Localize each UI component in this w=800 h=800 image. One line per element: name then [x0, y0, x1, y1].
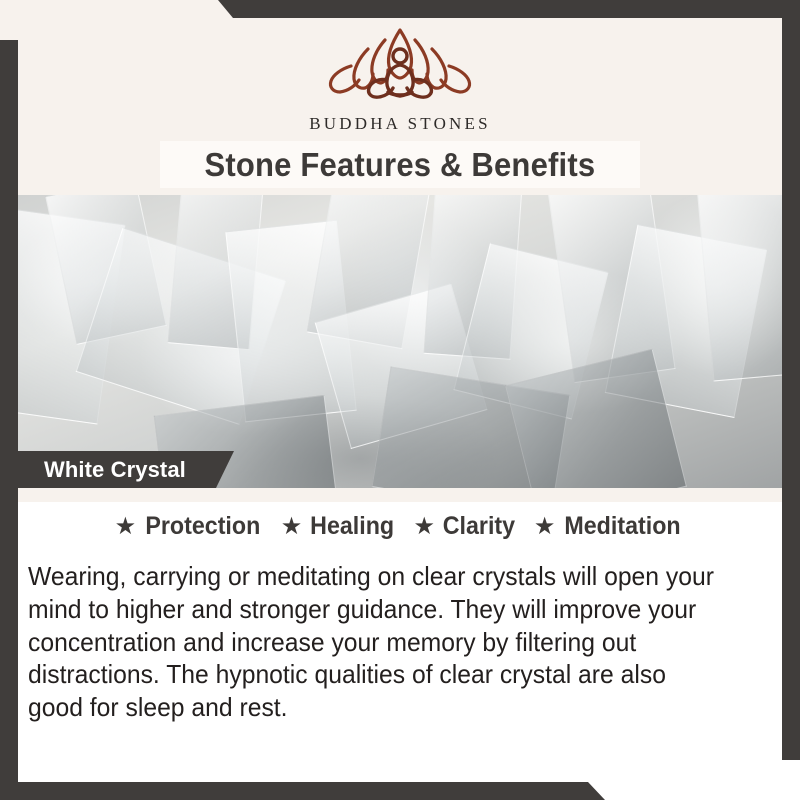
stone-benefits-poster: BUDDHA STONES Stone Features & Benefits … [0, 0, 800, 800]
benefit-item: ★ Clarity [408, 512, 524, 541]
frame-right-bar [782, 0, 800, 760]
content-panel: ★ Protection ★ Healing ★ Clarity ★ Medit… [0, 488, 800, 800]
star-icon: ★ [534, 515, 556, 539]
star-icon: ★ [115, 515, 137, 539]
benefit-label: Healing [310, 512, 394, 541]
stone-name: White Crystal [18, 457, 186, 483]
benefit-label: Protection [145, 512, 260, 541]
white-crystal-cluster-photo [0, 195, 800, 488]
benefit-label: Clarity [443, 512, 515, 541]
benefit-item: ★ Protection [109, 512, 271, 541]
benefit-item: ★ Healing [275, 512, 404, 541]
brand-logo: BUDDHA STONES [0, 22, 800, 134]
lotus-meditation-icon [315, 22, 485, 110]
frame-left-bar [0, 40, 18, 800]
page-title-band: Stone Features & Benefits [160, 141, 640, 188]
star-icon: ★ [281, 515, 303, 539]
description-text: Wearing, carrying or meditating on clear… [28, 560, 727, 724]
star-icon: ★ [414, 515, 436, 539]
benefits-row: ★ Protection ★ Healing ★ Clarity ★ Medit… [0, 512, 800, 541]
brand-name: BUDDHA STONES [0, 114, 800, 134]
page-title: Stone Features & Benefits [205, 146, 596, 184]
benefit-item: ★ Meditation [528, 512, 692, 541]
benefit-label: Meditation [565, 512, 681, 541]
divider-strip [0, 488, 800, 502]
stone-name-banner: White Crystal [18, 451, 234, 488]
